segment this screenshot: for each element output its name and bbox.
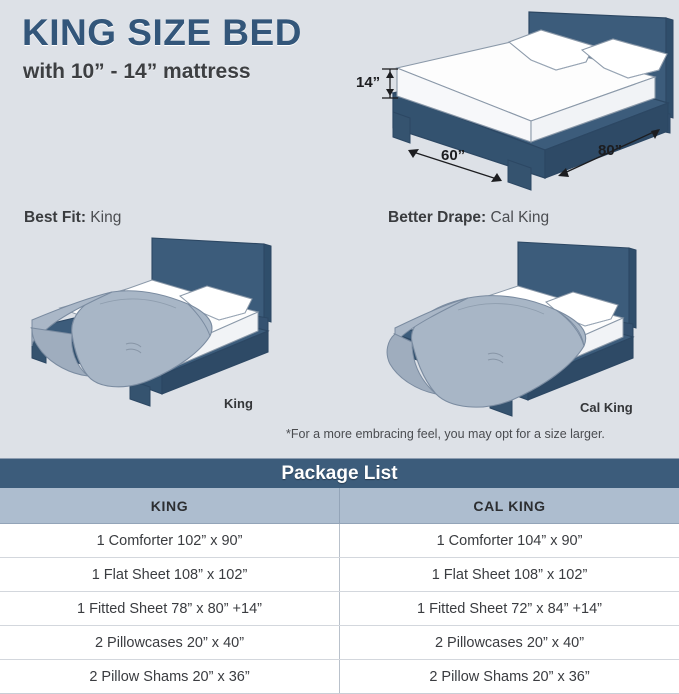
cell-calking-comforter: 1 Comforter 104” x 90” (340, 524, 679, 558)
cell-calking-flat-sheet: 1 Flat Sheet 108” x 102” (340, 558, 679, 592)
package-list-title: Package List (0, 458, 679, 488)
cell-king-flat-sheet: 1 Flat Sheet 108” x 102” (0, 558, 340, 592)
infographic-page: KING SIZE BED with 10” - 14” mattress (0, 0, 679, 679)
best-fit-label-bold: Best Fit: (24, 209, 86, 226)
footnote: *For a more embracing feel, you may opt … (286, 427, 605, 441)
table-row: 1 Flat Sheet 108” x 102” 1 Flat Sheet 10… (0, 558, 679, 592)
table-row: 1 Fitted Sheet 78” x 80” +14” 1 Fitted S… (0, 592, 679, 626)
dimension-label-height: 14” (356, 74, 380, 91)
better-drape-label-bold: Better Drape: (388, 209, 486, 226)
cell-calking-pillow-shams: 2 Pillow Shams 20” x 36” (340, 660, 679, 694)
best-fit-label-value: King (86, 209, 121, 226)
cell-king-comforter: 1 Comforter 102” x 90” (0, 524, 340, 558)
table-row: 2 Pillow Shams 20” x 36” 2 Pillow Shams … (0, 660, 679, 694)
better-drape-label-value: Cal King (486, 209, 549, 226)
cell-king-fitted-sheet: 1 Fitted Sheet 78” x 80” +14” (0, 592, 340, 626)
table-row: 1 Comforter 102” x 90” 1 Comforter 104” … (0, 524, 679, 558)
king-caption: King (224, 396, 253, 411)
dimension-label-width: 60” (441, 147, 465, 164)
cell-calking-pillowcases: 2 Pillowcases 20” x 40” (340, 626, 679, 660)
cell-calking-fitted-sheet: 1 Fitted Sheet 72” x 84” +14” (340, 592, 679, 626)
column-header-king: KING (0, 488, 340, 524)
package-list-section: Package List KING CAL KING 1 Comforter 1… (0, 458, 679, 694)
best-fit-label: Best Fit: King (24, 209, 121, 227)
column-header-cal-king: CAL KING (340, 488, 679, 524)
cell-king-pillow-shams: 2 Pillow Shams 20” x 36” (0, 660, 340, 694)
cell-king-pillowcases: 2 Pillowcases 20” x 40” (0, 626, 340, 660)
table-header-row: KING CAL KING (0, 488, 679, 524)
dimension-label-length: 80” (598, 142, 622, 159)
cal-king-caption: Cal King (580, 400, 633, 415)
main-bed-illustration (0, 0, 679, 200)
better-drape-label: Better Drape: Cal King (388, 209, 549, 227)
king-bed-illustration (0, 228, 340, 428)
package-list-table: KING CAL KING 1 Comforter 102” x 90” 1 C… (0, 488, 679, 694)
table-row: 2 Pillowcases 20” x 40” 2 Pillowcases 20… (0, 626, 679, 660)
